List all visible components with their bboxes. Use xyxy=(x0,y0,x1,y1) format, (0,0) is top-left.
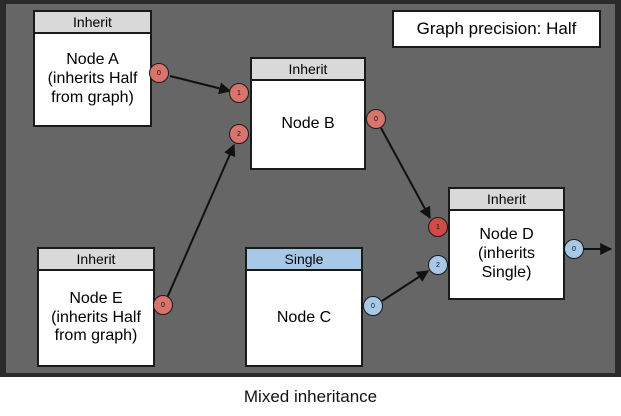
node-d-port-in-2-label: 2 xyxy=(436,262,440,269)
edge-b-to-d1 xyxy=(381,128,430,218)
node-c-header: Single xyxy=(247,249,361,271)
node-d-body: Node D (inherits Single) xyxy=(450,211,563,298)
node-b-header: Inherit xyxy=(252,59,364,81)
edge-e-to-b2 xyxy=(167,145,234,298)
node-c[interactable]: Single Node C xyxy=(245,247,363,367)
node-e[interactable]: Inherit Node E (inherits Half from graph… xyxy=(37,247,155,367)
node-c-port-out-0-label: 0 xyxy=(371,303,375,310)
node-e-body: Node E (inherits Half from graph) xyxy=(39,271,153,365)
node-b-port-in-1[interactable]: 1 xyxy=(229,83,249,103)
node-d-port-out-0-label: 0 xyxy=(572,246,576,253)
edge-a-to-b1 xyxy=(170,76,230,91)
node-d-header: Inherit xyxy=(450,189,563,211)
node-b[interactable]: Inherit Node B xyxy=(250,57,366,170)
node-d-port-in-2[interactable]: 2 xyxy=(428,255,448,275)
node-e-port-out-0-label: 0 xyxy=(161,302,165,309)
node-b-port-in-2[interactable]: 2 xyxy=(229,124,249,144)
node-a-port-out-0[interactable]: 0 xyxy=(149,63,169,83)
edge-c-to-d2 xyxy=(382,271,428,301)
node-a-body: Node A (inherits Half from graph) xyxy=(35,34,150,125)
node-b-port-out-0[interactable]: 0 xyxy=(366,109,386,129)
node-c-body: Node C xyxy=(247,271,361,365)
node-d[interactable]: Inherit Node D (inherits Single) xyxy=(448,187,565,300)
node-e-port-out-0[interactable]: 0 xyxy=(153,295,173,315)
graph-precision-label: Graph precision: Half xyxy=(392,10,601,48)
node-b-port-in-2-label: 2 xyxy=(237,131,241,138)
node-a[interactable]: Inherit Node A (inherits Half from graph… xyxy=(33,10,152,127)
node-d-port-in-1[interactable]: 1 xyxy=(428,217,448,237)
node-c-port-out-0[interactable]: 0 xyxy=(363,296,383,316)
node-d-port-out-0[interactable]: 0 xyxy=(564,239,584,259)
node-b-body: Node B xyxy=(252,81,364,168)
node-e-header: Inherit xyxy=(39,249,153,271)
graph-precision-text: Graph precision: Half xyxy=(417,19,577,39)
node-a-header: Inherit xyxy=(35,12,150,34)
diagram-caption-text: Mixed inheritance xyxy=(244,387,377,407)
node-a-port-out-0-label: 0 xyxy=(157,70,161,77)
node-d-port-in-1-label: 1 xyxy=(436,224,440,231)
node-b-port-out-0-label: 0 xyxy=(374,116,378,123)
diagram-caption: Mixed inheritance xyxy=(0,377,621,416)
node-b-port-in-1-label: 1 xyxy=(237,90,241,97)
